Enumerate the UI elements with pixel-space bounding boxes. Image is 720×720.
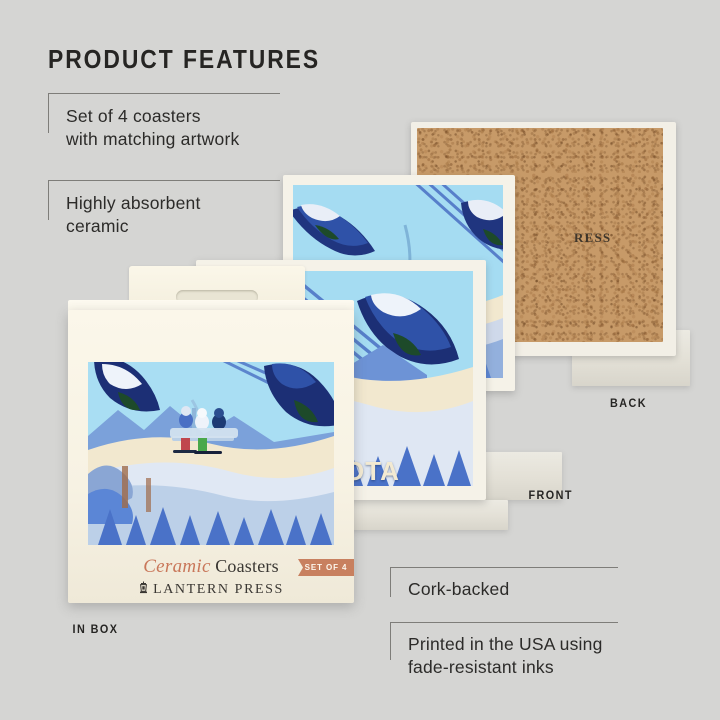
box-artwork-window bbox=[88, 362, 334, 545]
feature-divider-rule bbox=[390, 622, 618, 623]
feature-text: Highly absorbent ceramic bbox=[66, 192, 286, 238]
feature-item-highly-absorbent: Highly absorbent ceramic bbox=[48, 180, 280, 258]
set-of-4-badge: SET OF 4 bbox=[298, 559, 354, 576]
page-title: PRODUCT FEATURES bbox=[48, 44, 320, 75]
product-box: Ceramic Coasters LANTERN PRESS SET OF 4 bbox=[68, 310, 354, 603]
feature-text: Cork-backed bbox=[408, 578, 624, 601]
feature-divider-rule bbox=[48, 93, 280, 94]
ski-lift-artwork-svg bbox=[88, 362, 334, 545]
publisher-name: LANTERN PRESS bbox=[153, 582, 284, 597]
feature-divider-tick bbox=[48, 93, 49, 133]
caption-back: BACK bbox=[610, 396, 647, 410]
cork-printed-text: RESS bbox=[574, 230, 611, 246]
brand-serif-word: Coasters bbox=[215, 556, 279, 576]
feature-item-printed-usa: Printed in the USA using fade-resistant … bbox=[390, 622, 618, 684]
feature-item-cork-backed: Cork-backed bbox=[390, 567, 618, 613]
lantern-icon bbox=[138, 581, 149, 599]
feature-text: Set of 4 coasters with matching artwork bbox=[66, 105, 286, 151]
feature-divider-tick bbox=[48, 180, 49, 220]
feature-divider-rule bbox=[390, 567, 618, 568]
caption-front: FRONT bbox=[528, 488, 572, 502]
feature-divider-tick bbox=[390, 622, 391, 660]
brand-script-word: Ceramic bbox=[143, 556, 211, 577]
feature-divider-rule bbox=[48, 180, 280, 181]
feature-divider-tick bbox=[390, 567, 391, 597]
feature-text: Printed in the USA using fade-resistant … bbox=[408, 633, 652, 679]
product-features-infographic: PRODUCT FEATURES Set of 4 coasters with … bbox=[0, 0, 720, 720]
publisher-line: LANTERN PRESS bbox=[68, 581, 354, 599]
caption-in-box: IN BOX bbox=[73, 622, 119, 636]
feature-item-set-of-4: Set of 4 coasters with matching artwork bbox=[48, 93, 280, 171]
lantern-icon-svg bbox=[138, 581, 149, 594]
